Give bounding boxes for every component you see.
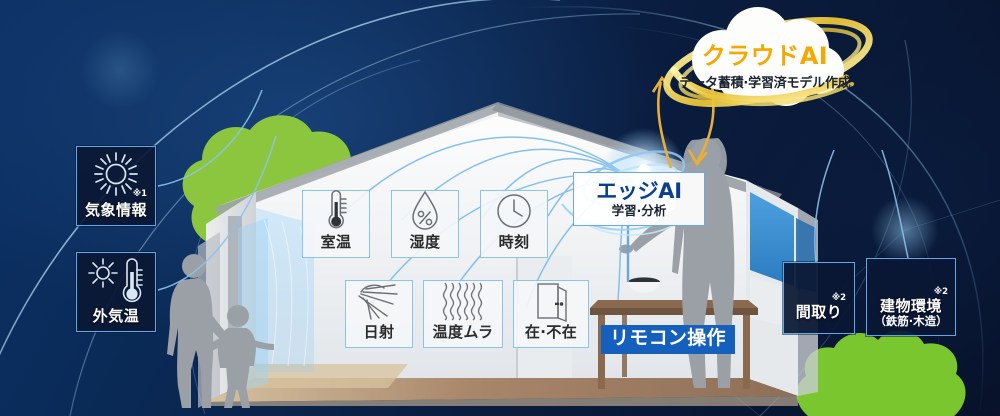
thermometer-icon — [303, 189, 369, 231]
card-room-temperature-label: 室温 — [321, 231, 352, 252]
card-humidity-label: 湿度 — [410, 231, 441, 252]
edge-ai-subtitle: 学習·分析 — [612, 203, 667, 218]
remote-control-badge[interactable]: リモコン操作 — [601, 325, 735, 354]
sunlight-rays-icon — [346, 281, 412, 321]
card-humidity[interactable]: 湿度 — [391, 190, 459, 258]
chip-building-env-sup: ※2 — [934, 287, 948, 297]
clock-icon — [481, 191, 547, 231]
card-presence[interactable]: 在·不在 — [513, 280, 589, 348]
card-solar-radiation[interactable]: 日射 — [345, 280, 413, 348]
chip-weather-info[interactable]: ※1 気象情報 — [76, 146, 156, 226]
edge-ai-card[interactable]: エッジAI 学習·分析 — [573, 172, 705, 226]
card-room-temperature[interactable]: 室温 — [302, 190, 370, 258]
cloud-title: クラウドAI — [650, 44, 880, 68]
card-time[interactable]: 時刻 — [480, 190, 548, 258]
edge-ai-title: エッジAI — [596, 180, 682, 202]
card-temperature-unevenness-label: 温度ムラ — [433, 321, 494, 342]
card-presence-label: 在·不在 — [525, 321, 577, 342]
cloud-subtitle: データ蓄積·学習済モデル作成 — [650, 72, 880, 91]
chip-building-env-label: 建物環境 — [880, 298, 942, 315]
temperature-unevenness-icon — [424, 281, 502, 321]
chip-weather-label: 気象情報 — [85, 202, 147, 218]
card-temperature-unevenness[interactable]: 温度ムラ — [423, 280, 503, 348]
chip-floor-plan[interactable]: ※2 間取り — [783, 262, 855, 334]
right-chip-connectors — [790, 150, 930, 270]
sun-thermometer-icon — [77, 253, 155, 308]
diagram-canvas: クラウドAI データ蓄積·学習済モデル作成 エッジAI 学習·分析 リモコン操作… — [0, 0, 1000, 416]
left-chip-connectors — [150, 90, 290, 310]
chip-outdoor-temp-label: 外気温 — [93, 308, 140, 324]
humidity-drop-percent-icon — [392, 189, 458, 231]
card-time-label: 時刻 — [499, 231, 530, 252]
chip-floor-plan-sup: ※2 — [832, 293, 846, 303]
chip-outdoor-temp[interactable]: 外気温 — [76, 252, 156, 332]
cloud-ai-card[interactable]: クラウドAI データ蓄積·学習済モデル作成 — [650, 4, 880, 126]
chip-weather-sup: ※1 — [133, 189, 147, 199]
card-solar-radiation-label: 日射 — [364, 321, 395, 342]
chip-floor-plan-label: 間取り — [796, 304, 843, 326]
door-presence-icon — [514, 281, 588, 321]
chip-building-env-sublabel: （鉄筋·木造） — [874, 315, 947, 328]
